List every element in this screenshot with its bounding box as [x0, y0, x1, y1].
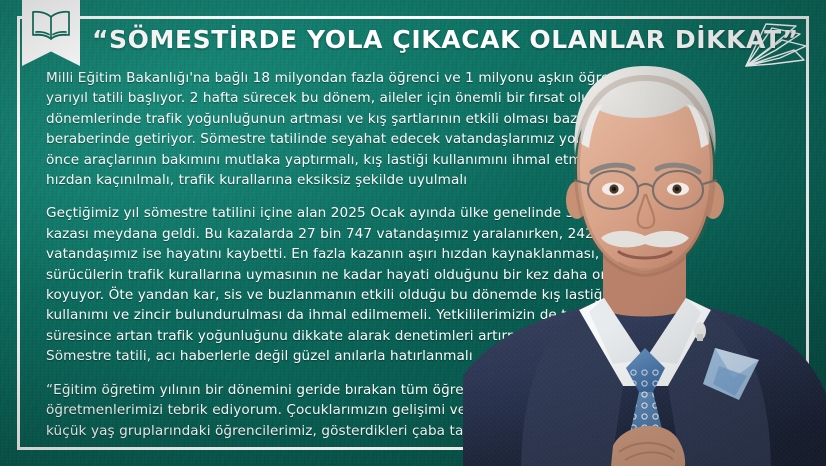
- open-book-icon: [29, 8, 73, 42]
- news-card: “SÖMESTİRDE YOLA ÇIKACAK OLANLAR DİKKAT”…: [0, 0, 826, 466]
- avatar: [463, 48, 826, 466]
